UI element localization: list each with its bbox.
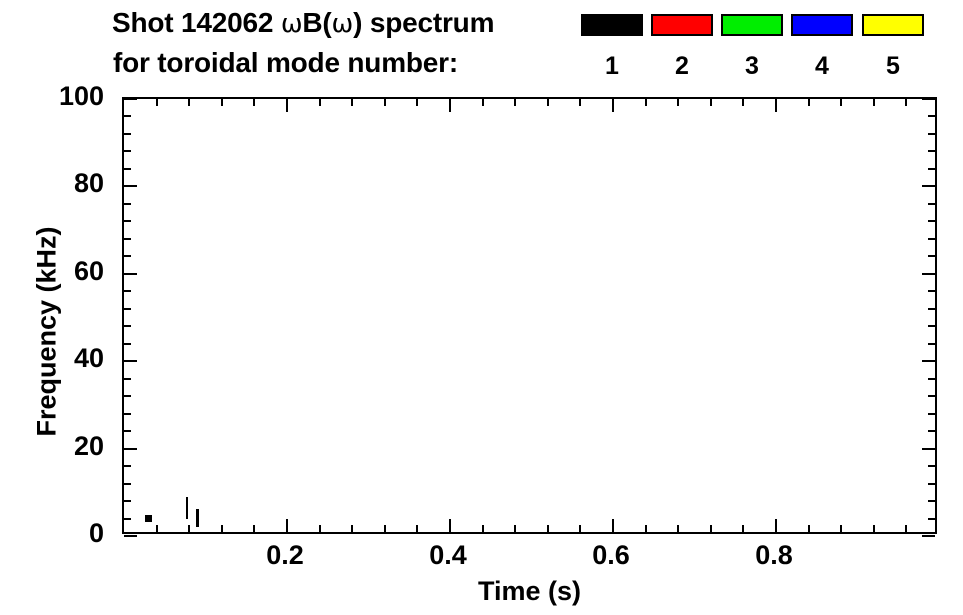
legend-swatch-n2	[651, 14, 713, 36]
x-major-tick-top-0.6	[612, 99, 614, 112]
legend-swatch-n4	[791, 14, 853, 36]
y-minor-tick-right	[928, 430, 935, 432]
y-major-tick-right-60	[922, 273, 935, 275]
y-minor-tick-right	[928, 343, 935, 345]
x-tick-label-0.8: 0.8	[734, 540, 814, 570]
x-minor-tick	[351, 525, 353, 532]
y-minor-tick-right	[928, 395, 935, 397]
x-minor-tick-top	[416, 99, 418, 106]
x-major-tick-0.6	[612, 519, 614, 532]
y-minor-tick	[124, 203, 131, 205]
x-minor-tick	[873, 525, 875, 532]
legend-label-n3: 3	[721, 52, 783, 80]
y-minor-tick-right	[928, 168, 935, 170]
y-minor-tick	[124, 150, 131, 152]
y-minor-tick-right	[928, 238, 935, 240]
y-major-tick-100	[124, 98, 137, 100]
x-minor-tick-top	[645, 99, 647, 106]
legend-swatch-n1	[581, 14, 643, 36]
x-minor-tick-top	[808, 99, 810, 106]
y-major-tick-right-40	[922, 360, 935, 362]
y-minor-tick-right	[928, 290, 935, 292]
x-major-tick-0.4	[449, 519, 451, 532]
x-minor-tick-top	[710, 99, 712, 106]
x-minor-tick	[710, 525, 712, 532]
y-major-tick-right-20	[922, 448, 935, 450]
x-tick-label-0.6: 0.6	[571, 540, 651, 570]
legend-label-n1: 1	[581, 52, 643, 80]
x-minor-tick	[742, 525, 744, 532]
y-minor-tick	[124, 220, 131, 222]
y-minor-tick-right	[928, 518, 935, 520]
x-major-tick-top-0.2	[286, 99, 288, 112]
x-minor-tick-top	[319, 99, 321, 106]
x-minor-tick-top	[547, 99, 549, 106]
legend-swatch-n3	[721, 14, 783, 36]
x-minor-tick	[384, 525, 386, 532]
y-minor-tick	[124, 465, 131, 467]
plot-data-area	[124, 99, 935, 532]
x-minor-tick-top	[677, 99, 679, 106]
x-minor-tick-top	[253, 99, 255, 106]
y-minor-tick	[124, 308, 131, 310]
x-minor-tick	[253, 525, 255, 532]
y-major-tick-40	[124, 360, 137, 362]
x-minor-tick	[221, 525, 223, 532]
data-mark-n1	[186, 497, 188, 519]
x-minor-tick-top	[873, 99, 875, 106]
legend-label-n2: 2	[651, 52, 713, 80]
y-minor-tick-right	[928, 308, 935, 310]
y-minor-tick	[124, 238, 131, 240]
y-minor-tick-right	[928, 133, 935, 135]
y-major-tick-80	[124, 185, 137, 187]
x-minor-tick-top	[482, 99, 484, 106]
x-minor-tick	[547, 525, 549, 532]
x-tick-label-0.2: 0.2	[245, 540, 325, 570]
x-minor-tick	[514, 525, 516, 532]
x-minor-tick	[677, 525, 679, 532]
y-minor-tick-right	[928, 500, 935, 502]
y-minor-tick	[124, 325, 131, 327]
y-minor-tick	[124, 290, 131, 292]
x-major-tick-0.8	[775, 519, 777, 532]
y-axis-title: Frequency (kHz)	[32, 122, 63, 542]
y-tick-label-100: 100	[59, 82, 104, 110]
y-tick-label-0: 0	[89, 519, 104, 547]
x-minor-tick	[645, 525, 647, 532]
x-major-tick-0.2	[286, 519, 288, 532]
y-tick-label-20: 20	[74, 432, 104, 460]
y-minor-tick	[124, 168, 131, 170]
y-minor-tick-right	[928, 483, 935, 485]
x-minor-tick-top	[514, 99, 516, 106]
legend-swatch-n5	[862, 14, 924, 36]
y-minor-tick	[124, 500, 131, 502]
y-minor-tick	[124, 430, 131, 432]
y-minor-tick-right	[928, 378, 935, 380]
x-minor-tick-top	[905, 99, 907, 106]
x-minor-tick-top	[221, 99, 223, 106]
y-minor-tick	[124, 518, 131, 520]
plot-frame	[122, 97, 937, 534]
y-major-tick-right-0	[922, 535, 935, 537]
y-minor-tick	[124, 413, 131, 415]
x-minor-tick	[156, 525, 158, 532]
x-minor-tick	[188, 525, 190, 532]
x-major-tick-top-0.4	[449, 99, 451, 112]
y-major-tick-right-100	[922, 98, 935, 100]
x-major-tick-top-0.8	[775, 99, 777, 112]
y-minor-tick-right	[928, 115, 935, 117]
x-tick-label-0.4: 0.4	[408, 540, 488, 570]
x-minor-tick	[319, 525, 321, 532]
y-minor-tick	[124, 133, 131, 135]
x-minor-tick-top	[188, 99, 190, 106]
y-major-tick-60	[124, 273, 137, 275]
y-tick-label-60: 60	[74, 257, 104, 285]
x-minor-tick-top	[384, 99, 386, 106]
y-minor-tick	[124, 483, 131, 485]
spectrum-figure: Shot 142062 ωB(ω) spectrum for toroidal …	[0, 0, 963, 615]
x-minor-tick-top	[351, 99, 353, 106]
x-minor-tick-top	[156, 99, 158, 106]
x-minor-tick	[482, 525, 484, 532]
y-major-tick-0	[124, 535, 137, 537]
data-mark-n1	[145, 515, 152, 522]
y-tick-label-80: 80	[74, 169, 104, 197]
y-minor-tick	[124, 395, 131, 397]
y-minor-tick-right	[928, 220, 935, 222]
x-minor-tick	[808, 525, 810, 532]
y-minor-tick	[124, 115, 131, 117]
x-minor-tick	[579, 525, 581, 532]
y-major-tick-20	[124, 448, 137, 450]
y-minor-tick	[124, 255, 131, 257]
y-minor-tick-right	[928, 465, 935, 467]
y-minor-tick-right	[928, 203, 935, 205]
x-axis-title: Time (s)	[122, 576, 937, 607]
legend: 12345	[0, 0, 963, 95]
y-minor-tick	[124, 378, 131, 380]
x-minor-tick-top	[742, 99, 744, 106]
x-minor-tick-top	[840, 99, 842, 106]
data-mark-n1	[196, 509, 199, 527]
legend-label-n4: 4	[791, 52, 853, 80]
x-axis-tick-labels: 0.20.40.60.8	[122, 540, 937, 574]
x-minor-tick	[905, 525, 907, 532]
y-minor-tick-right	[928, 413, 935, 415]
y-minor-tick-right	[928, 325, 935, 327]
x-minor-tick	[416, 525, 418, 532]
legend-label-n5: 5	[862, 52, 924, 80]
x-minor-tick	[840, 525, 842, 532]
x-minor-tick-top	[579, 99, 581, 106]
y-tick-label-40: 40	[74, 344, 104, 372]
y-minor-tick-right	[928, 255, 935, 257]
y-minor-tick	[124, 343, 131, 345]
y-major-tick-right-80	[922, 185, 935, 187]
y-minor-tick-right	[928, 150, 935, 152]
